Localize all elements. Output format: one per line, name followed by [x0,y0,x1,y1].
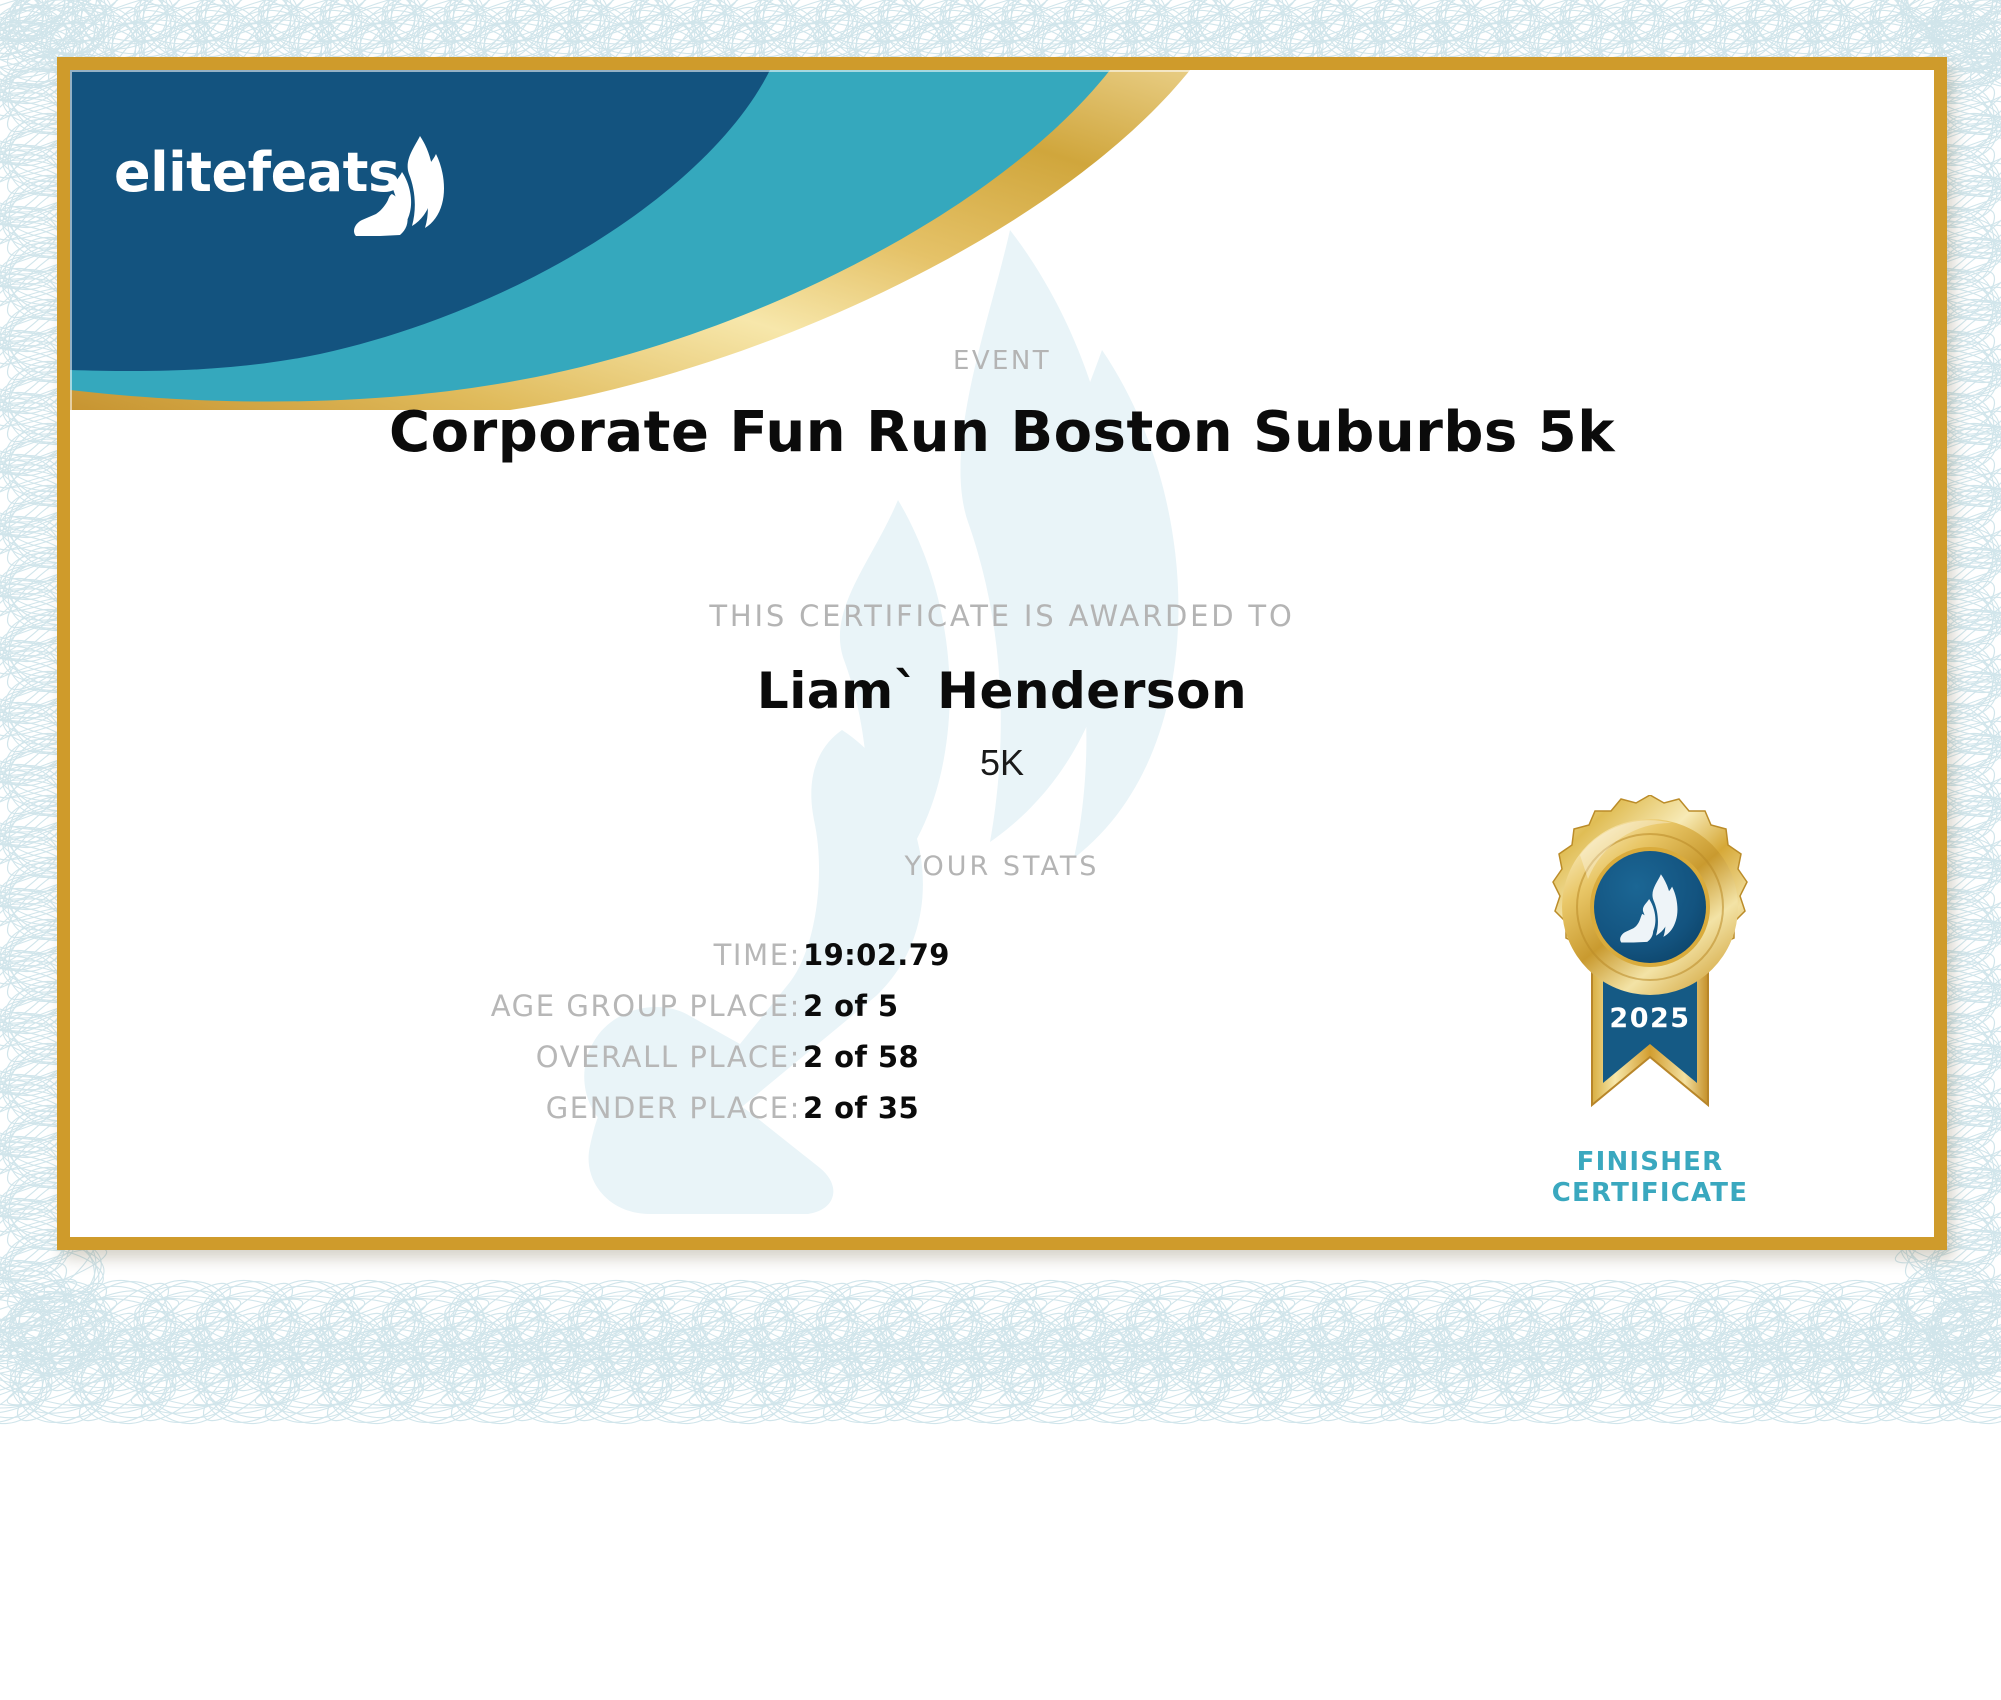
seal-caption-line2: CERTIFICATE [1500,1178,1800,1209]
seal-caption-line1: FINISHER [1500,1147,1800,1178]
stat-value: 2 of 5 [803,981,899,1032]
event-label: EVENT [70,346,1934,376]
seal-caption: FINISHER CERTIFICATE [1500,1147,1800,1208]
event-title: Corporate Fun Run Boston Suburbs 5k [70,400,1934,465]
race-distance: 5K [70,742,1934,784]
finisher-seal: 2025 [1500,795,1800,1225]
stat-label: OVERALL PLACE: [536,1032,801,1083]
awarded-to-label: THIS CERTIFICATE IS AWARDED TO [70,599,1934,633]
stat-value: 2 of 58 [803,1032,919,1083]
certificate-gold-frame: elitefeats EVENT Corporate Fun Run Bosto… [57,57,1947,1250]
certificate-body: elitefeats EVENT Corporate Fun Run Bosto… [70,70,1934,1237]
stat-label: AGE GROUP PLACE: [491,981,801,1032]
certificate-page: elitefeats EVENT Corporate Fun Run Bosto… [0,0,2001,1700]
stat-value: 2 of 35 [803,1083,919,1134]
stat-value: 19:02.79 [803,930,950,981]
stat-label: GENDER PLACE: [546,1083,801,1134]
seal-year: 2025 [1609,1003,1690,1034]
winged-foot-medal-icon: 2025 [1500,795,1800,1145]
stat-label: TIME: [714,930,801,981]
recipient-name: Liam` Henderson [70,662,1934,720]
certificate-content: EVENT Corporate Fun Run Boston Suburbs 5… [70,70,1934,1237]
